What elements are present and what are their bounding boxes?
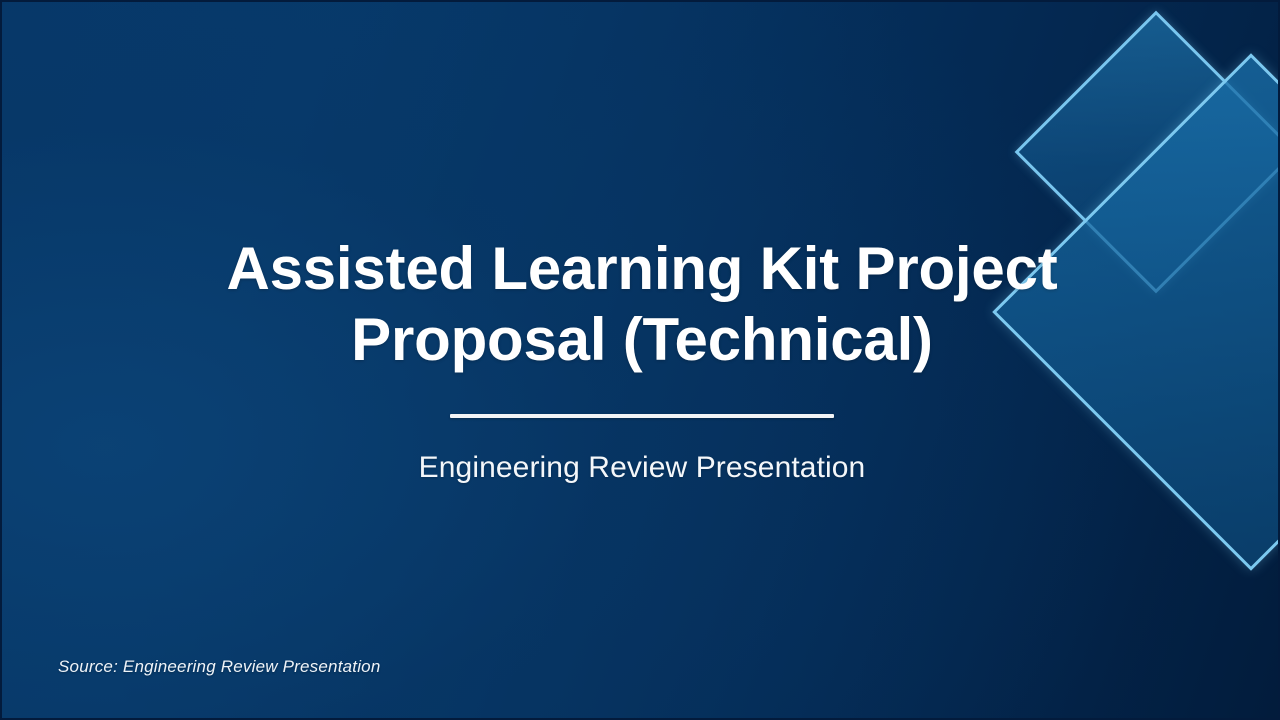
- source-credit: Source: Engineering Review Presentation: [58, 657, 380, 677]
- title-slide: Assisted Learning Kit Project Proposal (…: [0, 0, 1280, 720]
- page-title: Assisted Learning Kit Project Proposal (…: [122, 234, 1162, 376]
- title-divider: [450, 414, 834, 418]
- page-title-line-1: Assisted Learning Kit Project: [226, 235, 1057, 302]
- page-subtitle: Engineering Review Presentation: [122, 451, 1162, 485]
- title-block: Assisted Learning Kit Project Proposal (…: [122, 234, 1162, 485]
- page-title-line-2: Proposal (Technical): [351, 306, 933, 373]
